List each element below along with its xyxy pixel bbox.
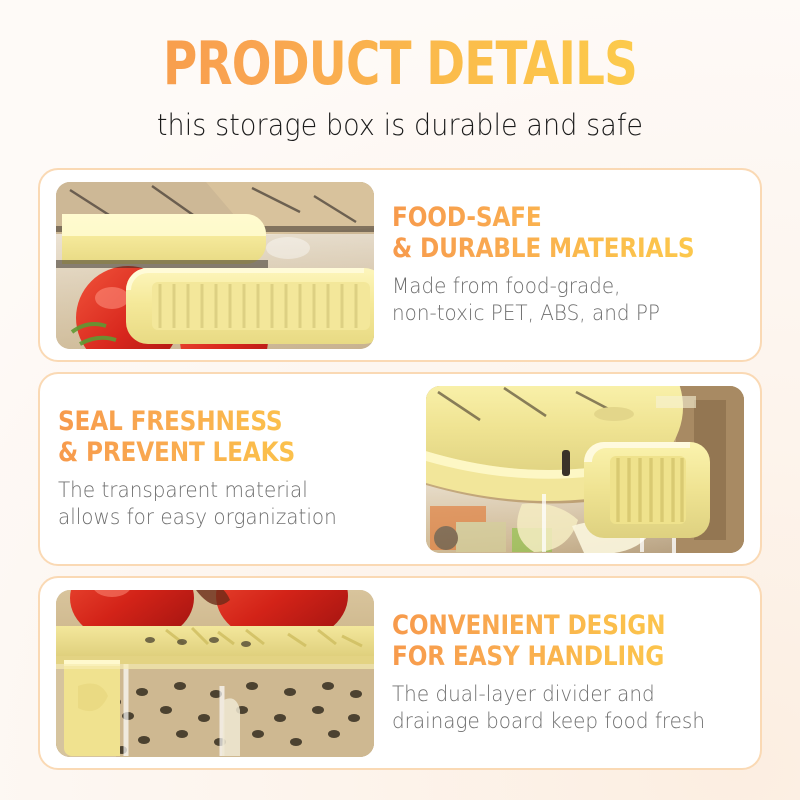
product-photo-food-safe [56,182,374,349]
feature-heading: FOOD-SAFE & DURABLE MATERIALS [392,203,696,265]
feature-description-line1: The dual-layer divider and [392,682,655,706]
feature-heading-line2: & PREVENT LEAKS [58,438,356,469]
feature-heading-line1: SEAL FRESHNESS [58,406,282,437]
feature-card-copy: SEAL FRESHNESS & PREVENT LEAKS The trans… [40,407,410,531]
feature-description: The dual-layer divider and drainage boar… [392,681,728,735]
page-title: PRODUCT DETAILS [88,34,712,94]
feature-heading-line1: FOOD-SAFE [392,202,542,233]
page-subtitle: this storage box is durable and safe [28,108,772,142]
product-photo-drainage-board [56,590,374,757]
feature-heading-line2: FOR EASY HANDLING [392,642,696,673]
feature-description-line2: allows for easy organization [58,504,387,531]
product-photo-seal-freshness [426,386,744,553]
feature-card: CONVENIENT DESIGN FOR EASY HANDLING The … [38,576,762,770]
infographic-page: PRODUCT DETAILS this storage box is dura… [0,0,800,800]
feature-description: Made from food-grade, non-toxic PET, ABS… [392,273,728,327]
feature-description-line2: drainage board keep food fresh [392,708,728,735]
feature-card-copy: FOOD-SAFE & DURABLE MATERIALS Made from … [390,203,760,327]
feature-card: FOOD-SAFE & DURABLE MATERIALS Made from … [38,168,762,362]
feature-description-line2: non-toxic PET, ABS, and PP [392,300,728,327]
feature-heading-line1: CONVENIENT DESIGN [392,610,665,641]
feature-card-list: FOOD-SAFE & DURABLE MATERIALS Made from … [38,168,762,770]
feature-description-line1: The transparent material [58,478,308,502]
feature-description-line1: Made from food-grade, [392,274,620,298]
feature-description: The transparent material allows for easy… [58,477,387,531]
feature-card-copy: CONVENIENT DESIGN FOR EASY HANDLING The … [390,611,760,735]
feature-heading-line2: & DURABLE MATERIALS [392,234,696,265]
feature-heading: SEAL FRESHNESS & PREVENT LEAKS [58,407,356,469]
feature-heading: CONVENIENT DESIGN FOR EASY HANDLING [392,611,696,673]
feature-card: SEAL FRESHNESS & PREVENT LEAKS The trans… [38,372,762,566]
page-header: PRODUCT DETAILS this storage box is dura… [0,0,800,142]
